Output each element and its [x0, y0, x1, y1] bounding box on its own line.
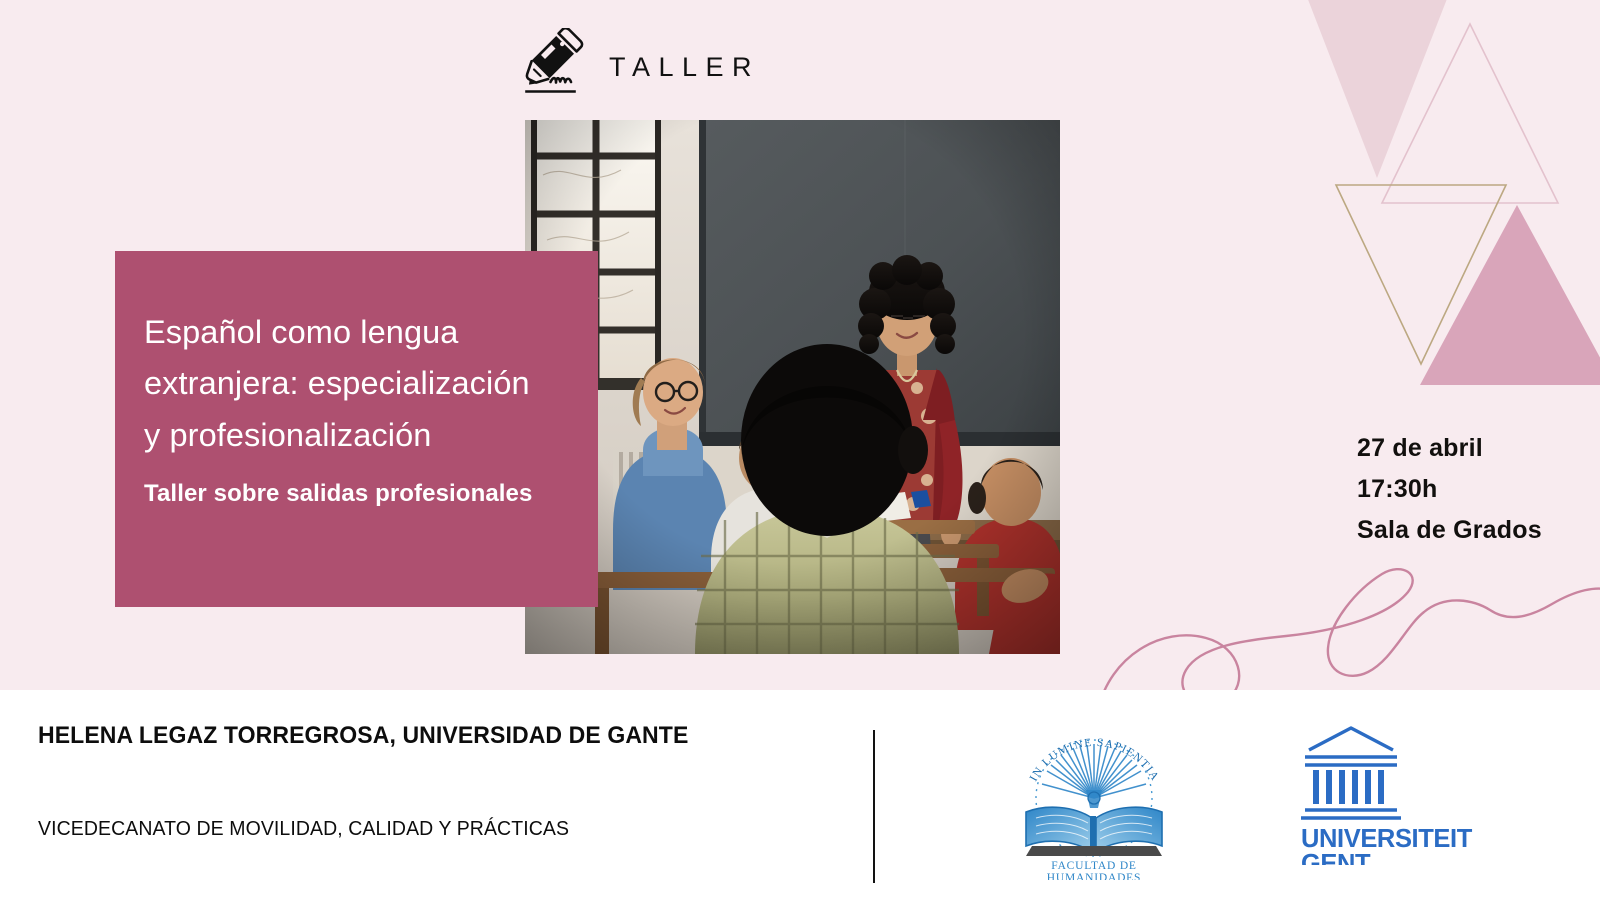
triangle-outline-down-gold — [1336, 185, 1506, 364]
triangle-filled-up-dark — [1420, 205, 1600, 385]
workshop-subtitle: Taller sobre salidas profesionales — [144, 473, 554, 514]
footer-department: VICEDECANATO DE MOVILIDAD, CALIDAD Y PRÁ… — [38, 817, 569, 841]
triangle-outline-up-pink — [1382, 24, 1558, 203]
universiteit-gent-logo: UNIVERSITEIT GENT — [1295, 720, 1475, 865]
workshop-title: Español como lengua extranjera: especial… — [144, 307, 554, 461]
ugent-line1: UNIVERSITEIT — [1301, 825, 1473, 853]
fountain-pen-icon — [525, 28, 587, 100]
faculty-line1: FACULTAD DE — [1051, 860, 1137, 872]
header-title: TALLER — [609, 48, 760, 81]
triangle-filled-down-light — [1285, 0, 1470, 178]
event-info: 27 de abril 17:30h Sala de Grados — [1357, 428, 1542, 551]
event-time: 17:30h — [1357, 469, 1542, 510]
footer-speaker: HELENA LEGAZ TORREGROSA, UNIVERSIDAD DE … — [38, 719, 688, 753]
squiggle-line-icon — [1090, 560, 1600, 710]
title-card: Español como lengua extranjera: especial… — [115, 251, 598, 607]
classroom-photo — [525, 120, 1060, 654]
ugent-line2: GENT — [1301, 850, 1371, 865]
event-location: Sala de Grados — [1357, 510, 1542, 551]
classroom-photo-illustration — [525, 120, 1060, 654]
faculty-humanities-logo: IN LUMINE SAPIENTIA FACULTAD DE HUMANIDA… — [1012, 712, 1177, 880]
event-date: 27 de abril — [1357, 428, 1542, 469]
header: TALLER — [525, 28, 760, 100]
faculty-line2: HUMANIDADES — [1047, 872, 1141, 880]
temple-icon — [1305, 728, 1397, 765]
triangles-group — [1240, 0, 1600, 400]
poster-canvas: TALLER — [0, 0, 1600, 900]
temple-columns-icon — [1313, 770, 1384, 804]
footer: HELENA LEGAZ TORREGROSA, UNIVERSIDAD DE … — [0, 690, 1600, 900]
footer-divider — [873, 730, 875, 883]
